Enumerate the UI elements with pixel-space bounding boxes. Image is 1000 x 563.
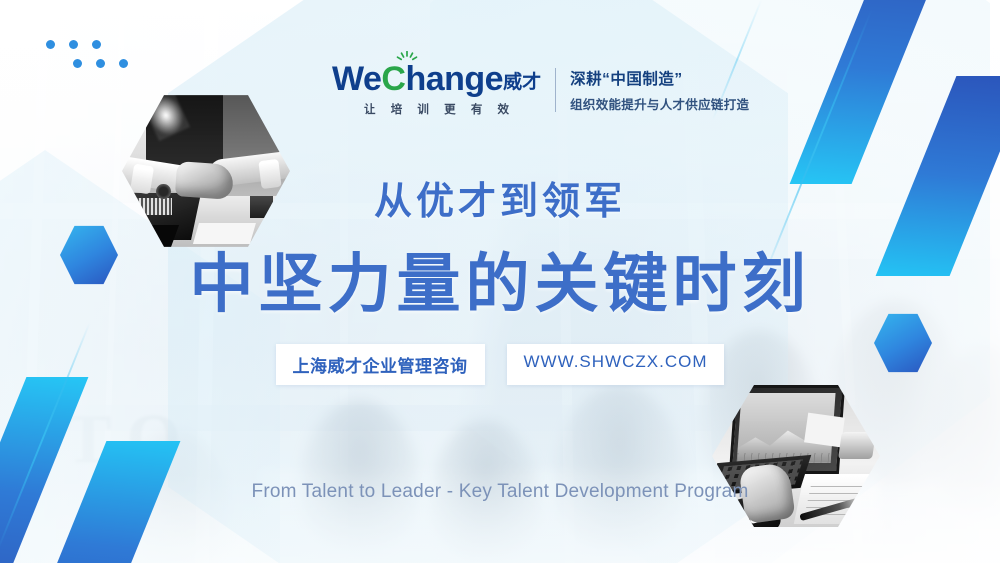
dot [69, 40, 78, 49]
brand-tagline-group: 深耕“中国制造” 组织效能提升与人才供应链打造 [570, 67, 749, 113]
dot-row [46, 40, 128, 49]
tagline-sub: 组织效能提升与人才供应链打造 [570, 94, 749, 113]
dot [96, 59, 105, 68]
logo-segment-chinese: 威才 [503, 72, 541, 93]
logo-segment-c: C [381, 60, 405, 98]
info-pill-group: 上海威才企业管理咨询 WWW.SHWCZX.COM [0, 344, 1000, 385]
tagline-main: 深耕“中国制造” [570, 67, 749, 89]
dot [73, 59, 82, 68]
headline-block: 从优才到领军 中坚力量的关键时刻 [0, 170, 1000, 325]
logo-left: WeChange威才 让 培 训 更 有 效 [332, 62, 541, 117]
company-pill[interactable]: 上海威才企业管理咨询 [276, 344, 485, 385]
english-subtitle: From Talent to Leader - Key Talent Devel… [0, 481, 1000, 503]
dot [92, 40, 101, 49]
logo-wordmark: WeChange威才 [332, 62, 541, 96]
decor-dot-grid [46, 40, 128, 68]
logo-slogan: 让 培 训 更 有 效 [358, 101, 515, 117]
headline-title: 中坚力量的关键时刻 [0, 233, 1000, 325]
poster-canvas: STO [0, 0, 1000, 563]
headline-eyebrow: 从优才到领军 [0, 170, 1000, 225]
website-pill[interactable]: WWW.SHWCZX.COM [507, 344, 725, 385]
dot [46, 40, 55, 49]
sunburst-icon [394, 51, 420, 65]
logo-divider [555, 68, 556, 112]
dot-row [73, 59, 128, 68]
logo-segment-hange: hange [405, 60, 503, 98]
brand-logo-block: WeChange威才 让 培 训 更 有 效 深耕“中国制造” 组织效能提升与人… [332, 62, 749, 117]
dot [119, 59, 128, 68]
logo-segment-we: We [332, 60, 381, 98]
